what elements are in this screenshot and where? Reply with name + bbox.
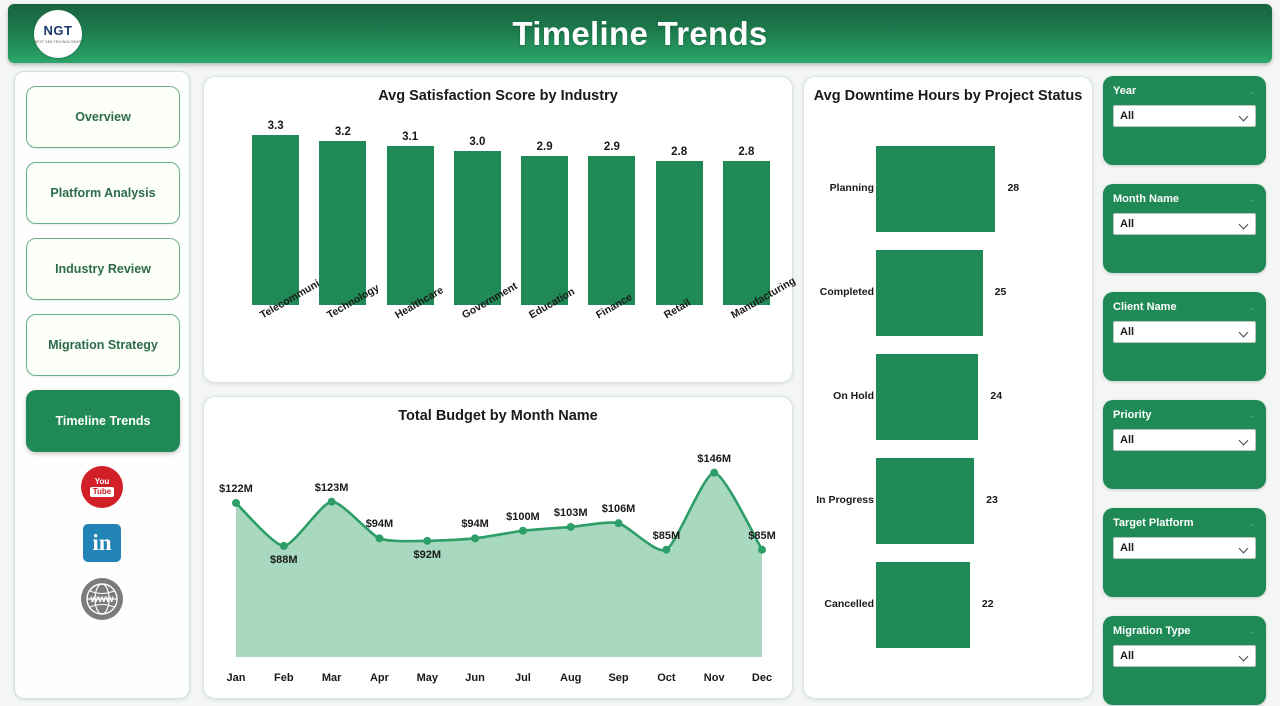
bar-rect[interactable] — [588, 156, 635, 305]
slicer-header: Priority⌄ — [1113, 409, 1256, 421]
hbar-row[interactable]: Planning28 — [804, 146, 1094, 232]
slicer-target-platform[interactable]: Target Platform⌄All — [1103, 508, 1266, 597]
slicer-dropdown[interactable]: All — [1113, 321, 1256, 343]
logo-text: NGT — [44, 24, 73, 37]
slicer-month-name[interactable]: Month Name⌄All — [1103, 184, 1266, 273]
website-glyph: www — [90, 594, 113, 605]
bar-value-label: 2.8 — [656, 146, 703, 158]
youtube-label-you: You — [95, 478, 110, 486]
slicer-title: Migration Type — [1113, 625, 1190, 637]
month-tick-label: Nov — [704, 672, 725, 684]
month-tick-label: Mar — [322, 672, 342, 684]
chevron-down-icon[interactable]: ⌄ — [1248, 519, 1256, 528]
chevron-down-icon[interactable] — [1240, 112, 1249, 121]
bar-value-label: 3.1 — [387, 131, 434, 143]
area-value-label: $100M — [506, 511, 540, 523]
satisfaction-chart-card: Avg Satisfaction Score by Industry 3.3Te… — [203, 76, 793, 383]
sidebar-nav: OverviewPlatform AnalysisIndustry Review… — [14, 71, 190, 699]
bar-column[interactable]: 3.1 — [387, 146, 434, 305]
linkedin-glyph: in — [92, 530, 111, 556]
slicer-header: Year⌄ — [1113, 85, 1256, 97]
area-value-label: $85M — [748, 530, 776, 542]
area-value-label: $146M — [697, 453, 731, 465]
slicer-title: Priority — [1113, 409, 1152, 421]
month-tick-label: May — [417, 672, 438, 684]
budget-chart-card: Total Budget by Month Name $122M$88M$123… — [203, 396, 793, 699]
sidebar-item-industry-review[interactable]: Industry Review — [26, 238, 180, 300]
chevron-down-icon[interactable] — [1240, 652, 1249, 661]
month-tick-label: Jul — [515, 672, 531, 684]
bar-column[interactable]: 2.9 — [521, 156, 568, 305]
area-value-label: $85M — [653, 530, 681, 542]
chevron-down-icon[interactable]: ⌄ — [1248, 411, 1256, 420]
bar-value-label: 2.9 — [588, 141, 635, 153]
area-marker — [567, 523, 575, 531]
hbar-rect[interactable] — [876, 354, 978, 440]
budget-chart-title: Total Budget by Month Name — [204, 397, 792, 424]
area-value-label: $88M — [270, 554, 298, 566]
bar-rect[interactable] — [521, 156, 568, 305]
youtube-label-tube: Tube — [90, 487, 115, 497]
youtube-icon[interactable]: You Tube — [81, 466, 123, 508]
area-marker — [375, 534, 383, 542]
area-marker — [615, 519, 623, 527]
month-tick-label: Feb — [274, 672, 294, 684]
bar-column[interactable]: 3.3 — [252, 135, 299, 305]
page-title: Timeline Trends — [8, 15, 1272, 53]
filter-panel: Year⌄AllMonth Name⌄AllClient Name⌄AllPri… — [1103, 76, 1266, 706]
chevron-down-icon[interactable] — [1240, 328, 1249, 337]
slicer-selected-value: All — [1120, 650, 1134, 662]
month-tick-label: Aug — [560, 672, 581, 684]
area-value-label: $94M — [366, 518, 394, 530]
hbar-row[interactable]: Cancelled22 — [804, 562, 1094, 648]
hbar-rect[interactable] — [876, 146, 995, 232]
slicer-title: Client Name — [1113, 301, 1177, 313]
slicer-header: Client Name⌄ — [1113, 301, 1256, 313]
hbar-rect[interactable] — [876, 458, 974, 544]
area-marker — [758, 546, 766, 554]
slicer-header: Target Platform⌄ — [1113, 517, 1256, 529]
slicer-header: Month Name⌄ — [1113, 193, 1256, 205]
bar-value-label: 2.9 — [521, 141, 568, 153]
bar-rect[interactable] — [387, 146, 434, 305]
bar-column[interactable]: 2.9 — [588, 156, 635, 305]
logo-subtitle: NEXT GEN TECHNOLOGIES — [35, 40, 82, 44]
hbar-row[interactable]: Completed25 — [804, 250, 1094, 336]
sidebar-item-label: Migration Strategy — [48, 338, 158, 352]
chevron-down-icon[interactable]: ⌄ — [1248, 303, 1256, 312]
hbar-category-label: Cancelled — [810, 598, 874, 610]
linkedin-icon[interactable]: in — [83, 524, 121, 562]
slicer-selected-value: All — [1120, 326, 1134, 338]
slicer-selected-value: All — [1120, 110, 1134, 122]
area-marker — [471, 534, 479, 542]
area-marker — [328, 498, 336, 506]
slicer-client-name[interactable]: Client Name⌄All — [1103, 292, 1266, 381]
chevron-down-icon[interactable]: ⌄ — [1248, 87, 1256, 96]
page-header: NGT NEXT GEN TECHNOLOGIES Timeline Trend… — [8, 4, 1272, 63]
bar-rect[interactable] — [252, 135, 299, 305]
bar-value-label: 2.8 — [723, 146, 770, 158]
bar-value-label: 3.2 — [319, 126, 366, 138]
slicer-dropdown[interactable]: All — [1113, 537, 1256, 559]
month-tick-label: Oct — [657, 672, 675, 684]
bar-column[interactable]: 2.8 — [723, 161, 770, 305]
area-value-label: $94M — [461, 518, 489, 530]
downtime-chart-title: Avg Downtime Hours by Project Status — [804, 77, 1092, 104]
slicer-dropdown[interactable]: All — [1113, 213, 1256, 235]
slicer-title: Target Platform — [1113, 517, 1193, 529]
hbar-category-label: Planning — [810, 182, 874, 194]
month-tick-label: Apr — [370, 672, 389, 684]
company-logo[interactable]: NGT NEXT GEN TECHNOLOGIES — [34, 10, 82, 58]
bar-rect[interactable] — [723, 161, 770, 305]
website-icon[interactable]: www — [81, 578, 123, 620]
bar-column[interactable]: 3.0 — [454, 151, 501, 305]
sidebar-item-platform-analysis[interactable]: Platform Analysis — [26, 162, 180, 224]
chevron-down-icon[interactable]: ⌄ — [1248, 627, 1256, 636]
chevron-down-icon[interactable] — [1240, 436, 1249, 445]
hbar-rect[interactable] — [876, 562, 970, 648]
chevron-down-icon[interactable]: ⌄ — [1248, 195, 1256, 204]
social-links: You Tube in www — [26, 466, 178, 620]
area-marker — [519, 527, 527, 535]
bar-column[interactable]: 3.2 — [319, 141, 366, 305]
sidebar-item-timeline-trends[interactable]: Timeline Trends — [26, 390, 180, 452]
bar-value-label: 3.0 — [454, 136, 501, 148]
satisfaction-chart-plot[interactable]: 3.3Telecommunicati...3.2Technology3.1Hea… — [218, 115, 780, 373]
hbar-row[interactable]: In Progress23 — [804, 458, 1094, 544]
chevron-down-icon[interactable] — [1240, 220, 1249, 229]
slicer-dropdown[interactable]: All — [1113, 645, 1256, 667]
bar-rect[interactable] — [454, 151, 501, 305]
month-tick-label: Jan — [227, 672, 246, 684]
bar-value-label: 3.3 — [252, 120, 299, 132]
hbar-value-label: 23 — [986, 494, 998, 506]
area-marker — [662, 546, 670, 554]
sidebar-item-overview[interactable]: Overview — [26, 86, 180, 148]
hbar-value-label: 24 — [990, 390, 1002, 402]
slicer-year[interactable]: Year⌄All — [1103, 76, 1266, 165]
area-marker — [710, 469, 718, 477]
slicer-priority[interactable]: Priority⌄All — [1103, 400, 1266, 489]
sidebar-item-label: Timeline Trends — [56, 414, 151, 428]
hbar-rect[interactable] — [876, 250, 983, 336]
bar-column[interactable]: 2.8 — [656, 161, 703, 305]
area-value-label: $103M — [554, 507, 588, 519]
slicer-migration-type[interactable]: Migration Type⌄All — [1103, 616, 1266, 705]
hbar-category-label: Completed — [810, 286, 874, 298]
sidebar-item-migration-strategy[interactable]: Migration Strategy — [26, 314, 180, 376]
sidebar-item-label: Platform Analysis — [50, 186, 155, 200]
slicer-title: Year — [1113, 85, 1136, 97]
area-value-label: $123M — [315, 482, 349, 494]
slicer-title: Month Name — [1113, 193, 1179, 205]
slicer-header: Migration Type⌄ — [1113, 625, 1256, 637]
budget-chart-x-axis: JanFebMarAprMayJunJulAugSepOctNovDec — [214, 672, 784, 688]
bar-rect[interactable] — [656, 161, 703, 305]
hbar-value-label: 22 — [982, 598, 994, 610]
hbar-row[interactable]: On Hold24 — [804, 354, 1094, 440]
chevron-down-icon[interactable] — [1240, 544, 1249, 553]
downtime-chart-card: Avg Downtime Hours by Project Status Pla… — [803, 76, 1093, 699]
area-value-label: $106M — [602, 503, 636, 515]
bar-rect[interactable] — [319, 141, 366, 305]
month-tick-label: Dec — [752, 672, 772, 684]
sidebar-item-label: Overview — [75, 110, 131, 124]
slicer-dropdown[interactable]: All — [1113, 105, 1256, 127]
area-value-label: $92M — [414, 549, 442, 561]
area-marker — [423, 537, 431, 545]
area-marker — [280, 542, 288, 550]
month-tick-label: Sep — [608, 672, 628, 684]
slicer-dropdown[interactable]: All — [1113, 429, 1256, 451]
downtime-chart-plot[interactable]: Planning28Completed25On Hold24In Progres… — [804, 113, 1094, 693]
hbar-category-label: In Progress — [810, 494, 874, 506]
hbar-value-label: 25 — [995, 286, 1007, 298]
area-value-label: $122M — [219, 483, 253, 495]
budget-chart-plot[interactable]: $122M$88M$123M$94M$92M$94M$100M$103M$106… — [214, 427, 784, 667]
slicer-selected-value: All — [1120, 542, 1134, 554]
satisfaction-chart-title: Avg Satisfaction Score by Industry — [204, 77, 792, 104]
hbar-category-label: On Hold — [810, 390, 874, 402]
area-marker — [232, 499, 240, 507]
slicer-selected-value: All — [1120, 218, 1134, 230]
area-fill — [236, 473, 762, 657]
month-tick-label: Jun — [465, 672, 485, 684]
slicer-selected-value: All — [1120, 434, 1134, 446]
hbar-value-label: 28 — [1007, 182, 1019, 194]
sidebar-item-label: Industry Review — [55, 262, 151, 276]
